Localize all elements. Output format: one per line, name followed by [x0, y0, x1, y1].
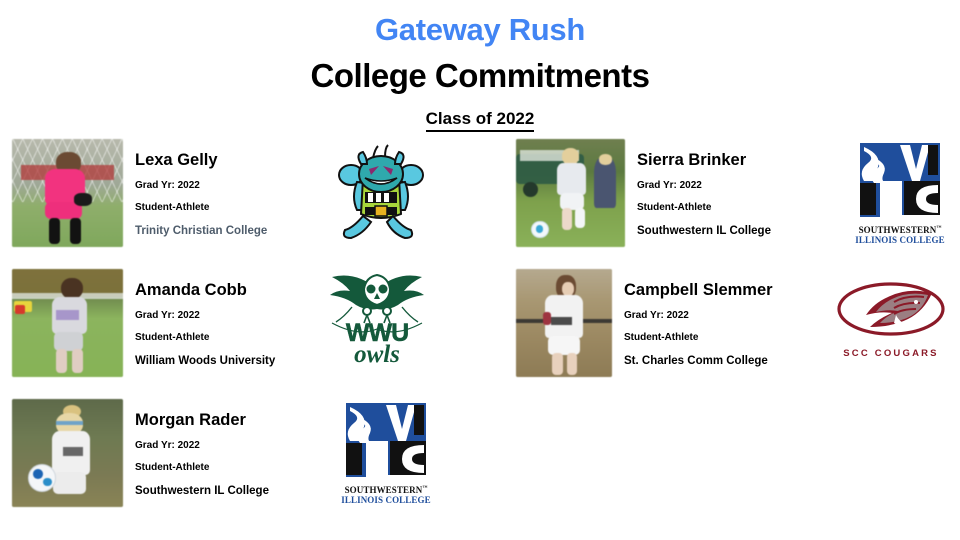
swic-tm: ™	[422, 486, 427, 491]
org-title: Gateway Rush	[0, 14, 960, 45]
athlete-info: Campbell Slemmer Grad Yr: 2022 Student-A…	[624, 269, 830, 367]
scc-cougars-logo: SCC COUGARS	[836, 281, 946, 359]
athlete-photo-lexa-gelly	[12, 139, 123, 247]
athlete-role: Student-Athlete	[624, 332, 830, 343]
athlete-college: William Woods University	[135, 355, 326, 367]
athlete-card[interactable]: Morgan Rader Grad Yr: 2022 Student-Athle…	[12, 399, 432, 507]
athlete-grid: Lexa Gelly Grad Yr: 2022 Student-Athlete…	[0, 134, 960, 534]
athlete-role: Student-Athlete	[135, 462, 334, 473]
athlete-name: Campbell Slemmer	[624, 281, 830, 299]
swic-line2: ILLINOIS COLLEGE	[854, 236, 946, 245]
athlete-grad-year: Grad Yr: 2022	[135, 180, 323, 191]
swic-line2: ILLINOIS COLLEGE	[340, 496, 432, 505]
swic-line1: SOUTHWESTERN	[345, 485, 423, 495]
swic-logo: SOUTHWESTERN™ ILLINOIS COLLEGE	[340, 401, 432, 505]
athlete-info: Morgan Rader Grad Yr: 2022 Student-Athle…	[135, 399, 334, 497]
athlete-info: Lexa Gelly Grad Yr: 2022 Student-Athlete…	[135, 139, 323, 237]
athlete-info: Amanda Cobb Grad Yr: 2022 Student-Athlet…	[135, 269, 326, 367]
athlete-college: St. Charles Comm College	[624, 355, 830, 367]
page-title: College Commitments	[0, 59, 960, 92]
trinity-christian-trolls-logo	[327, 142, 432, 247]
athlete-photo-amanda-cobb	[12, 269, 123, 377]
athlete-card[interactable]: Campbell Slemmer Grad Yr: 2022 Student-A…	[516, 269, 946, 377]
scc-text: SCC COUGARS	[836, 348, 946, 359]
athlete-photo-sierra-brinker	[516, 139, 625, 247]
athlete-grad-year: Grad Yr: 2022	[135, 440, 334, 451]
athlete-name: Lexa Gelly	[135, 151, 323, 169]
swic-line1: SOUTHWESTERN	[859, 225, 937, 235]
athlete-role: Student-Athlete	[637, 202, 838, 213]
athlete-name: Morgan Rader	[135, 411, 334, 429]
swic-logo: SOUTHWESTERN™ ILLINOIS COLLEGE	[854, 141, 946, 245]
athlete-college: Trinity Christian College	[135, 225, 323, 237]
athlete-grad-year: Grad Yr: 2022	[624, 310, 830, 321]
athlete-name: Amanda Cobb	[135, 281, 326, 299]
header: Gateway Rush College Commitments Class o…	[0, 0, 960, 132]
athlete-photo-campbell-slemmer	[516, 269, 612, 377]
athlete-info: Sierra Brinker Grad Yr: 2022 Student-Ath…	[637, 139, 838, 237]
athlete-grad-year: Grad Yr: 2022	[637, 180, 838, 191]
athlete-grad-year: Grad Yr: 2022	[135, 310, 326, 321]
athlete-card[interactable]: Amanda Cobb Grad Yr: 2022 Student-Athlet…	[12, 269, 432, 377]
swic-mark-icon	[858, 141, 942, 217]
william-woods-owls-logo: WWU owls	[322, 267, 432, 377]
athlete-college: Southwestern IL College	[135, 485, 334, 497]
athlete-name: Sierra Brinker	[637, 151, 838, 169]
athlete-college: Southwestern IL College	[637, 225, 838, 237]
troll-mascot-icon	[327, 142, 432, 247]
swic-mark-icon	[344, 401, 428, 477]
athlete-role: Student-Athlete	[135, 202, 323, 213]
swic-tm: ™	[936, 226, 941, 231]
athlete-photo-morgan-rader	[12, 399, 123, 507]
athlete-role: Student-Athlete	[135, 332, 326, 343]
wwu-script: owls	[322, 341, 432, 369]
athlete-card[interactable]: Lexa Gelly Grad Yr: 2022 Student-Athlete…	[12, 139, 432, 247]
cougar-icon	[836, 281, 946, 341]
athlete-card[interactable]: Sierra Brinker Grad Yr: 2022 Student-Ath…	[516, 139, 946, 247]
slide-canvas: Gateway Rush College Commitments Class o…	[0, 0, 960, 540]
class-subtitle: Class of 2022	[426, 109, 535, 132]
